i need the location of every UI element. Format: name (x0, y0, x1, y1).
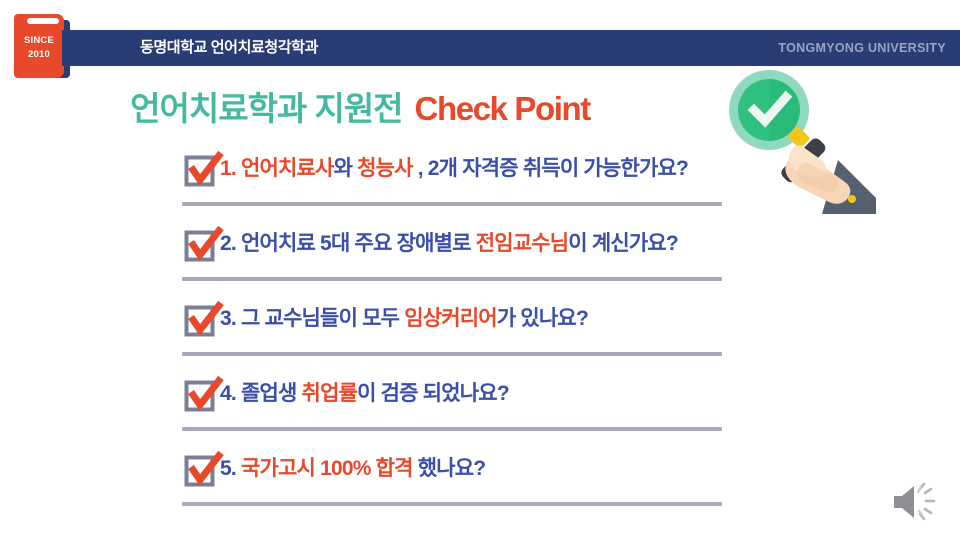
checkbox-checked-icon[interactable] (184, 301, 224, 339)
checklist-item-5[interactable]: 5. 국가고시 100% 합격 했나요? (184, 446, 724, 521)
checklist-item-3[interactable]: 3. 그 교수님들이 모두 임상커리어가 있나요? (184, 296, 724, 371)
magnifier-check-hand-illustration (726, 68, 876, 214)
header-university-name: TONGMYONG UNIVERSITY (778, 30, 946, 66)
text-segment: 1. (220, 157, 241, 180)
text-segment: 국가고시 100% 합격 (241, 457, 413, 480)
checklist-item-2[interactable]: 2. 언어치료 5대 주요 장애별로 전임교수님이 계신가요? (184, 221, 724, 296)
page-title-korean: 언어치료학과 지원전 (130, 90, 402, 127)
checklist-divider-5 (182, 502, 722, 506)
text-segment: 4. 졸업생 (220, 382, 302, 405)
text-segment: 했나요? (413, 457, 486, 480)
checklist-item-2-text: 2. 언어치료 5대 주요 장애별로 전임교수님이 계신가요? (220, 227, 678, 261)
checklist-item-3-text: 3. 그 교수님들이 모두 임상커리어가 있나요? (220, 302, 588, 336)
checklist-item-1-text: 1. 언어치료사와 청능사 , 2개 자격증 취득이 가능한가요? (220, 152, 688, 186)
checklist-divider-4 (182, 427, 722, 431)
header-bar: 동명대학교 언어치료청각학과 TONGMYONG UNIVERSITY (62, 30, 960, 66)
checklist-item-4-text: 4. 졸업생 취업률이 검증 되었나요? (220, 377, 509, 411)
sleeve-button (848, 195, 856, 203)
slide-canvas: SINCE 2010 동명대학교 언어치료청각학과 TONGMYONG UNIV… (0, 0, 960, 540)
checklist-divider-2 (182, 277, 722, 281)
checklist-divider-1 (182, 202, 722, 206)
speaker-icon[interactable] (890, 480, 942, 524)
checkbox-checked-icon[interactable] (184, 451, 224, 489)
text-segment: 임상커리어 (404, 307, 497, 330)
text-segment: 가 있나요? (497, 307, 588, 330)
book-page-edge (27, 18, 59, 24)
checklist-item-1[interactable]: 1. 언어치료사와 청능사 , 2개 자격증 취득이 가능한가요? (184, 146, 724, 221)
page-title-english: Check Point (415, 90, 590, 127)
text-segment: 이 계신가요? (568, 232, 678, 255)
text-segment: , 2개 자격증 취득이 가능한가요? (413, 157, 688, 180)
book-since-text: SINCE 2010 (14, 34, 64, 62)
book-since-line2: 2010 (14, 48, 64, 62)
checklist: 1. 언어치료사와 청능사 , 2개 자격증 취득이 가능한가요? 2. 언어치… (184, 146, 724, 521)
text-segment: 5. (220, 457, 241, 480)
book-since-line1: SINCE (14, 34, 64, 48)
text-segment: 언어치료사 (241, 157, 334, 180)
text-segment: 청능사 (357, 157, 413, 180)
checklist-item-5-text: 5. 국가고시 100% 합격 했나요? (220, 452, 485, 486)
text-segment: 취업률 (302, 382, 358, 405)
text-segment: 3. 그 교수님들이 모두 (220, 307, 404, 330)
checkbox-checked-icon[interactable] (184, 226, 224, 264)
page-title: 언어치료학과 지원전Check Point (0, 82, 720, 130)
text-segment: 전임교수님 (476, 232, 569, 255)
text-segment: 2. 언어치료 5대 주요 장애별로 (220, 232, 476, 255)
checklist-divider-3 (182, 352, 722, 356)
text-segment: 와 (334, 157, 358, 180)
header-department-title: 동명대학교 언어치료청각학과 (140, 30, 318, 66)
checkbox-checked-icon[interactable] (184, 151, 224, 189)
checkbox-checked-icon[interactable] (184, 376, 224, 414)
text-segment: 이 검증 되었나요? (357, 382, 509, 405)
checklist-item-4[interactable]: 4. 졸업생 취업률이 검증 되었나요? (184, 371, 724, 446)
